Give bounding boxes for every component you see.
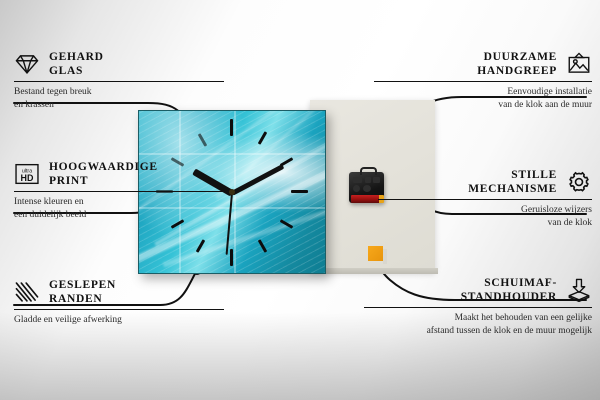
feature-desc-line: afstand tussen de klok en de muur mogeli…	[427, 326, 592, 336]
feature-desc-line: Gladde en veilige afwerking	[14, 315, 122, 325]
feature-desc-line: van de klok aan de muur	[498, 100, 592, 110]
foam-spacer	[368, 246, 383, 261]
feature-title-line: MECHANISME	[468, 183, 557, 195]
feature-desc-line: Geruisloze wijzers	[521, 205, 592, 215]
feature-divider	[14, 81, 224, 82]
feature-desc-line: een duidelijk beeld	[14, 210, 86, 220]
clock-tick-12	[230, 119, 233, 136]
framed-picture-icon	[566, 52, 592, 76]
feature-divider	[14, 191, 224, 192]
feature-title-line: HANDGREEP	[477, 65, 557, 77]
wall-panel-edge	[310, 268, 438, 274]
infographic-canvas: GEHARD GLAS Bestand tegen breuk en krass…	[0, 0, 600, 400]
feature-duurzame-handgreep: DUURZAME HANDGREEP Eenvoudige installati…	[374, 50, 592, 111]
feature-title-line: PRINT	[49, 175, 88, 187]
feature-title-line: STANDHOUDER	[461, 291, 557, 303]
feature-desc-line: Eenvoudige installatie	[507, 87, 592, 97]
clock-hand-pivot	[229, 189, 235, 195]
feature-desc-line: Bestand tegen breuk	[14, 87, 92, 97]
feature-divider	[14, 309, 224, 310]
feature-stille-mechanisme: STILLE MECHANISME Geruisloze wijzers van…	[378, 168, 592, 229]
feature-divider	[378, 199, 592, 200]
feature-divider	[364, 307, 592, 308]
feature-title-line: HOOGWAARDIGE	[49, 161, 158, 173]
feature-title-line: GESLEPEN	[49, 279, 116, 291]
diamond-icon	[14, 52, 40, 76]
feature-desc-line: en krassen	[14, 100, 54, 110]
clock-tick-3	[291, 190, 308, 193]
feature-gehard-glas: GEHARD GLAS Bestand tegen breuk en krass…	[14, 50, 224, 111]
feature-title-line: GEHARD	[49, 51, 104, 63]
feature-hoogwaardige-print: ultra HD HOOGWAARDIGE PRINT Intense kleu…	[14, 160, 224, 221]
feature-title-line: SCHUIMAF-	[484, 277, 557, 289]
feature-title-line: STILLE	[511, 169, 557, 181]
feature-divider	[374, 81, 592, 82]
press-down-pad-icon	[566, 278, 592, 302]
feature-title-line: DUURZAME	[484, 51, 557, 63]
feature-desc-line: van de klok	[548, 218, 592, 228]
ultra-hd-icon: ultra HD	[14, 162, 40, 186]
feature-desc-line: Maakt het behouden van een gelijke	[455, 313, 592, 323]
feature-title-line: RANDEN	[49, 293, 102, 305]
gear-icon	[566, 170, 592, 194]
clock-tick-6	[230, 249, 233, 266]
movement-hanger	[360, 167, 377, 175]
feature-geslepen-randen: GESLEPEN RANDEN Gladde en veilige afwerk…	[14, 278, 224, 327]
feature-schuimafstandhouder: SCHUIMAF- STANDHOUDER Maakt het behouden…	[364, 276, 592, 337]
ultra-hd-large-text: HD	[21, 173, 34, 183]
feature-desc-line: Intense kleuren en	[14, 197, 84, 207]
bevelled-edges-icon	[14, 280, 40, 304]
feature-title-line: GLAS	[49, 65, 83, 77]
